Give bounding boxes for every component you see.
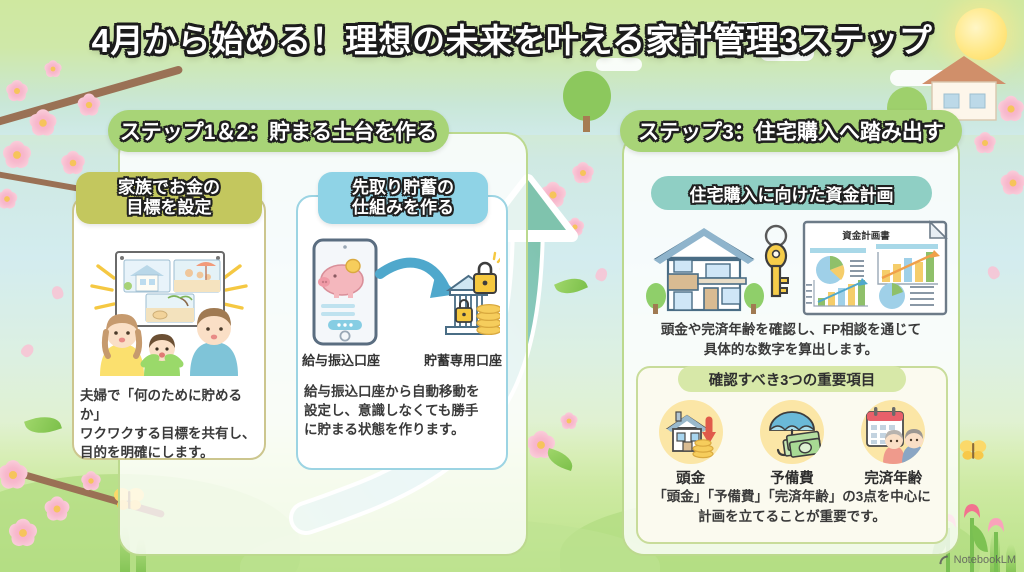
key-item-reserve-fund: 予備費 bbox=[745, 400, 839, 488]
card2-heading-line2: 仕組みを作る bbox=[352, 198, 454, 218]
card-goal-setting-heading: 家族でお金の 目標を設定 bbox=[76, 172, 262, 224]
card2-heading-line1: 先取り貯蓄の bbox=[352, 178, 454, 198]
watermark: NotebookLM bbox=[938, 554, 1016, 566]
key-item-label: 予備費 bbox=[745, 467, 839, 488]
card-automatic-savings-body: 給与振込口座から自動移動を 設定し、意識しなくても勝手 に貯まる状態を作ります。 bbox=[304, 382, 502, 439]
infographic-canvas: 4月から始める！理想の未来を叶える家計管理3ステップ ステップ1＆2：貯まる土台… bbox=[0, 0, 1024, 572]
key-items-description: 「頭金」「予備費」「完済年齢」の3点を中心に 計画を立てることが重要です。 bbox=[640, 487, 944, 526]
house-down-arrow-coins-icon bbox=[659, 400, 723, 464]
cherry-blossom-icon bbox=[998, 168, 1024, 198]
calendar-elderly-couple-icon bbox=[861, 400, 925, 464]
cherry-blossom-icon bbox=[79, 469, 102, 492]
cherry-blossom-icon bbox=[75, 91, 102, 118]
cherry-blossom-icon bbox=[0, 187, 19, 212]
cherry-blossom-icon bbox=[4, 78, 30, 104]
account-label-salary: 給与振込口座 bbox=[302, 350, 380, 369]
key-item-label: 頭金 bbox=[644, 467, 738, 488]
house-with-key-illustration bbox=[642, 216, 798, 320]
key-item-payoff-age: 完済年齢 bbox=[846, 400, 940, 488]
step-ribbon-1-2: ステップ1＆2：貯まる土台を作る bbox=[108, 110, 449, 152]
cherry-blossom-icon bbox=[0, 457, 31, 492]
right-panel-heading: 住宅購入に向けた資金計画 bbox=[651, 176, 932, 210]
petal-shape bbox=[50, 285, 64, 301]
account-labels: 給与振込口座 貯蓄専用口座 bbox=[302, 350, 502, 369]
cherry-blossom-icon bbox=[0, 138, 34, 172]
watermark-label: NotebookLM bbox=[954, 554, 1016, 566]
petal-shape bbox=[985, 264, 1001, 281]
family-vision-board-illustration bbox=[80, 236, 258, 376]
key-items-heading: 確認すべき3つの重要項目 bbox=[678, 366, 906, 392]
cherry-blossom-icon bbox=[995, 93, 1024, 124]
key-items-list: 頭金 予備費 bbox=[640, 400, 944, 488]
account-label-savings: 貯蓄専用口座 bbox=[424, 350, 502, 369]
card-automatic-savings-heading: 先取り貯蓄の 仕組みを作る bbox=[318, 172, 488, 224]
cherry-blossom-icon bbox=[972, 130, 998, 156]
cherry-blossom-icon bbox=[6, 516, 40, 550]
butterfly-icon bbox=[958, 438, 988, 462]
umbrella-money-icon bbox=[760, 400, 824, 464]
key-item-down-payment: 頭金 bbox=[644, 400, 738, 488]
card-goal-setting-body: 夫婦で「何のために貯めるか」 ワクワクする目標を共有し、 目的を明確にします。 bbox=[80, 386, 260, 463]
phone-piggybank-to-bank-illustration bbox=[304, 232, 500, 350]
cherry-blossom-icon bbox=[27, 107, 60, 140]
notebooklm-icon bbox=[938, 554, 950, 566]
page-title: 4月から始める！理想の未来を叶える家計管理3ステップ bbox=[0, 14, 1024, 62]
card1-heading-line2: 目標を設定 bbox=[127, 198, 212, 218]
petal-shape bbox=[19, 342, 36, 359]
right-panel-description: 頭金や完済年齢を確認し、FP相談を通じて 具体的な数字を算出します。 bbox=[630, 320, 952, 360]
document-title: 資金計画書 bbox=[823, 228, 909, 242]
key-item-label: 完済年齢 bbox=[846, 467, 940, 488]
step-ribbon-3: ステップ3：住宅購入へ踏み出す bbox=[620, 110, 962, 152]
card1-heading-line1: 家族でお金の bbox=[118, 178, 220, 198]
cherry-blossom-icon bbox=[42, 494, 72, 524]
